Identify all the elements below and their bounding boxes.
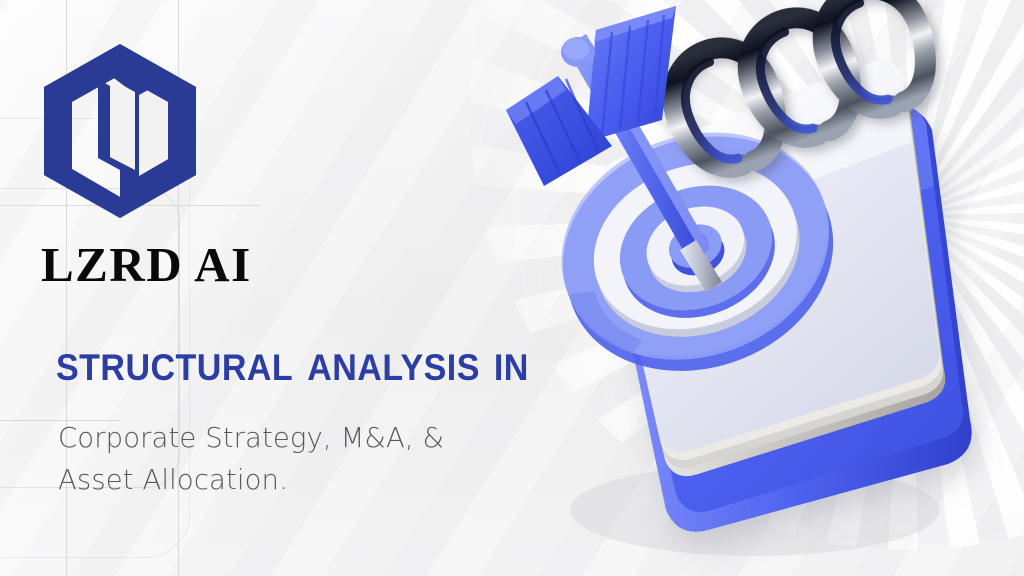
subtitle-line-2: Asset Allocation. [58, 460, 528, 502]
subtitle-line-1: Corporate Strategy, M&A, & [58, 418, 528, 460]
spiral-ring-icon-group [658, 0, 941, 181]
page-title: Structural Analysis in [56, 336, 529, 390]
notepad-cover [610, 106, 971, 532]
bullseye-target-icon [530, 96, 865, 407]
text-column: LZRD AI Structural Analysis in Corporate… [0, 0, 560, 576]
hexagon-monogram-icon [40, 42, 200, 220]
slide-canvas: LZRD AI Structural Analysis in Corporate… [0, 0, 1024, 576]
page-subtitle: Corporate Strategy, M&A, & Asset Allocat… [58, 418, 528, 502]
notepad-pages [602, 60, 945, 476]
notepad-target-dart-illustration [500, 0, 1024, 576]
brand-wordmark: LZRD AI [41, 240, 252, 289]
